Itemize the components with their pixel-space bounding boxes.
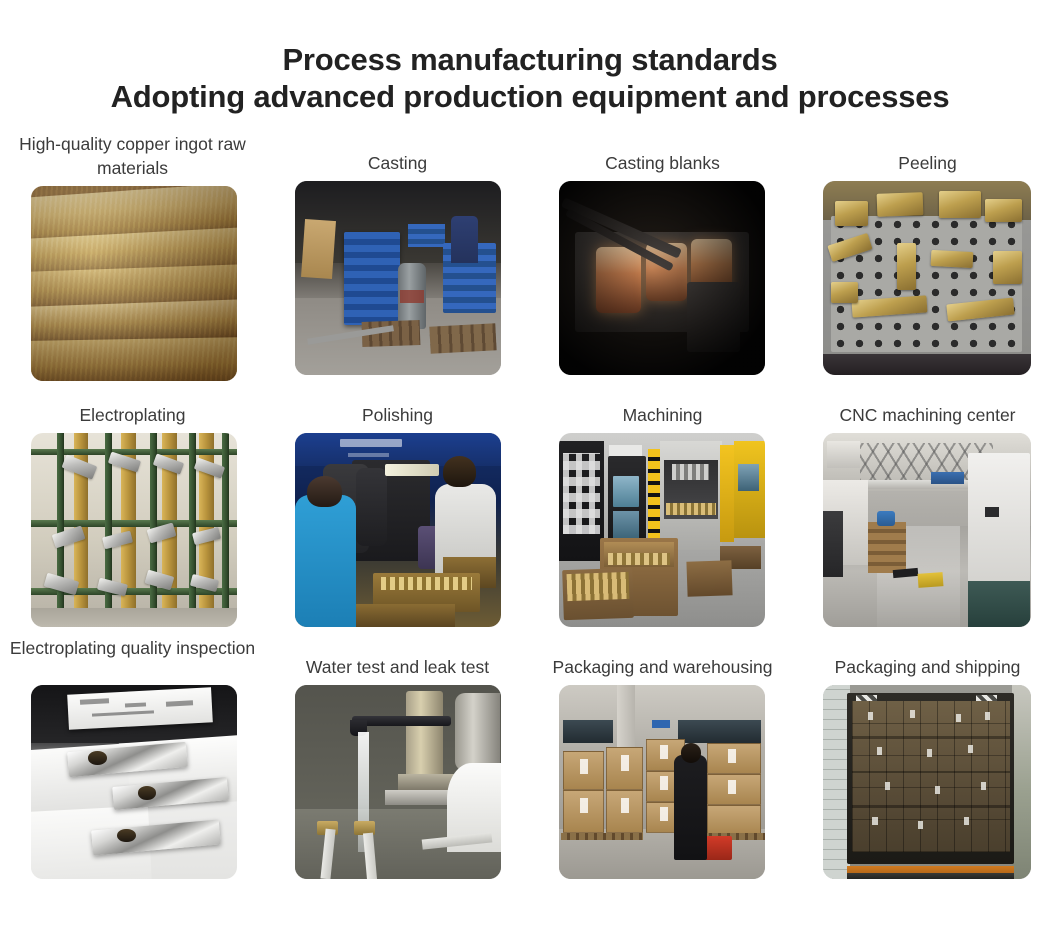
process-step-machining[interactable]: Machining xyxy=(530,385,795,637)
brass-part xyxy=(831,282,858,303)
worker-head xyxy=(443,456,476,487)
worker-head xyxy=(681,743,702,762)
yellow-panel xyxy=(720,445,734,542)
worker-figure xyxy=(451,216,478,263)
brass-part xyxy=(897,243,916,290)
carton-label xyxy=(935,786,940,794)
document-text xyxy=(166,700,193,706)
hazard-stripe xyxy=(648,449,660,550)
faucet-bore xyxy=(138,786,157,800)
step-photo-copper-ingot-raw-materials[interactable] xyxy=(31,186,237,381)
step-photo-packaging-and-shipping[interactable] xyxy=(823,685,1031,879)
bench-edge xyxy=(823,354,1031,375)
brass-parts xyxy=(608,553,670,565)
warehouse-window xyxy=(678,720,760,743)
cylinder-marking xyxy=(400,290,425,304)
photo-shading xyxy=(31,186,237,381)
wooden-crate xyxy=(686,560,733,596)
overhead-beam xyxy=(864,480,985,490)
carton-row-divider xyxy=(852,771,1010,774)
machine-screen xyxy=(613,511,640,538)
wooden-pallet xyxy=(430,323,497,354)
office-window xyxy=(827,441,860,468)
carton-label xyxy=(868,712,873,720)
page-title: Process manufacturing standards Adopting… xyxy=(0,0,1060,115)
wall-pillar xyxy=(617,685,636,751)
banner-text xyxy=(340,439,402,447)
carton-label xyxy=(985,712,990,720)
brass-part xyxy=(930,250,972,268)
spindle-heads xyxy=(672,464,709,480)
faucet-spout xyxy=(352,716,451,726)
carton-label xyxy=(877,747,882,755)
container-edge xyxy=(847,873,1013,879)
carton-label xyxy=(968,745,973,753)
blue-equipment xyxy=(877,511,896,527)
step-caption: Packaging and shipping xyxy=(795,637,1060,685)
step-photo-water-test-and-leak-test[interactable] xyxy=(295,685,501,879)
carton-label xyxy=(910,710,915,718)
page-title-line-1: Process manufacturing standards xyxy=(0,42,1060,79)
tiled-wall xyxy=(823,685,850,879)
carton-label xyxy=(660,807,668,821)
banner-text xyxy=(348,453,389,458)
carton-row-divider xyxy=(852,736,1010,739)
process-step-casting[interactable]: Casting xyxy=(265,133,530,385)
blue-crate-stack xyxy=(408,224,445,247)
carton-label xyxy=(981,782,986,790)
process-step-peeling[interactable]: Peeling xyxy=(795,133,1060,385)
carton-label xyxy=(927,749,932,757)
step-photo-packaging-and-warehousing[interactable] xyxy=(559,685,765,879)
step-caption: Water test and leak test xyxy=(265,637,530,685)
step-caption: High-quality copper ingot raw materials xyxy=(0,133,265,186)
plant-floor xyxy=(31,608,237,627)
step-caption: Electroplating xyxy=(0,385,265,433)
brass-part xyxy=(939,191,981,218)
brass-part xyxy=(993,251,1022,284)
machine-cabinet xyxy=(823,511,844,577)
parts-tray xyxy=(356,604,455,627)
window-panes xyxy=(563,453,600,534)
work-lamp xyxy=(385,464,439,476)
carton-label xyxy=(580,798,588,814)
carton-label xyxy=(728,749,736,763)
carton-label xyxy=(918,821,923,829)
carton-label xyxy=(580,759,588,775)
faucet-bore xyxy=(88,751,107,765)
machine-cabinet xyxy=(968,453,1030,593)
step-caption: Packaging and warehousing xyxy=(530,637,795,685)
carton-label xyxy=(660,745,668,759)
machine-screen xyxy=(738,464,759,491)
step-caption: Peeling xyxy=(795,133,1060,181)
process-standards-page: Process manufacturing standards Adopting… xyxy=(0,0,1060,949)
worker-figure xyxy=(295,495,357,627)
carton-label xyxy=(956,714,961,722)
process-step-packaging-and-warehousing[interactable]: Packaging and warehousing xyxy=(530,637,795,889)
green-column xyxy=(222,433,229,615)
green-column xyxy=(189,433,196,615)
machine-base xyxy=(968,581,1030,628)
wall-sign xyxy=(652,720,671,728)
step-photo-machining[interactable] xyxy=(559,433,765,627)
brass-part xyxy=(876,192,923,217)
process-step-casting-blanks[interactable]: Casting blanks xyxy=(530,133,795,385)
page-title-line-2: Adopting advanced production equipment a… xyxy=(0,79,1060,116)
carton-label xyxy=(621,798,629,814)
hazard-marking xyxy=(976,695,997,701)
process-step-electroplating[interactable]: Electroplating xyxy=(0,385,265,637)
hazard-marking xyxy=(856,695,877,701)
step-photo-peeling[interactable] xyxy=(823,181,1031,375)
step-photo-polishing[interactable] xyxy=(295,433,501,627)
machine-label xyxy=(609,445,642,457)
process-step-electroplating-quality-inspection[interactable]: Electroplating quality inspection xyxy=(0,637,265,889)
step-photo-casting[interactable] xyxy=(295,181,501,375)
brass-parts xyxy=(666,503,715,515)
stacked-boxes xyxy=(868,522,905,572)
blue-banner xyxy=(931,472,964,484)
carton-label xyxy=(964,817,969,825)
process-step-packaging-and-shipping[interactable]: Packaging and shipping xyxy=(795,637,1060,889)
brass-parts xyxy=(567,572,630,601)
wooden-pallet xyxy=(561,833,643,841)
document-text xyxy=(125,702,146,707)
yellow-tray xyxy=(918,572,944,587)
carton-label xyxy=(660,776,668,790)
cabinet-handle xyxy=(985,507,1000,517)
step-photo-electroplating-quality-inspection[interactable] xyxy=(31,685,237,879)
carton-row-divider xyxy=(852,805,1010,808)
step-photo-electroplating[interactable] xyxy=(31,433,237,627)
machine-screen xyxy=(613,476,640,507)
step-caption: Machining xyxy=(530,385,795,433)
step-caption: Casting blanks xyxy=(530,133,795,181)
metal-pipe xyxy=(455,693,500,771)
warehouse-window xyxy=(563,720,612,743)
photo-shading xyxy=(559,181,765,375)
carton-label xyxy=(728,780,736,794)
brass-part xyxy=(985,199,1022,222)
worker-head xyxy=(307,476,342,507)
wooden-board xyxy=(301,219,336,279)
background-view xyxy=(1012,685,1031,879)
worker-figure xyxy=(674,755,707,860)
blue-crate-stack xyxy=(344,232,400,325)
step-caption: CNC machining center xyxy=(795,385,1060,433)
process-step-polishing[interactable]: Polishing xyxy=(265,385,530,637)
carton-label xyxy=(621,755,629,771)
process-step-cnc-machining-center[interactable]: CNC machining center xyxy=(795,385,1060,637)
step-caption: Electroplating quality inspection xyxy=(0,637,265,685)
step-caption: Casting xyxy=(265,133,530,181)
step-photo-cnc-machining-center[interactable] xyxy=(823,433,1031,627)
process-steps-grid: High-quality copper ingot raw materials … xyxy=(0,133,1060,889)
carton-label xyxy=(872,817,877,825)
loaded-cartons xyxy=(852,701,1010,852)
fixture-base xyxy=(398,774,456,790)
process-step-copper-ingot-raw-materials[interactable]: High-quality copper ingot raw materials xyxy=(0,133,265,385)
test-fixture-column xyxy=(406,691,443,780)
step-caption: Polishing xyxy=(265,385,530,433)
carton-label xyxy=(885,782,890,790)
machine-hood xyxy=(356,468,387,546)
brass-parts xyxy=(381,577,472,591)
inspection-document xyxy=(67,687,213,729)
faucet-bore xyxy=(117,829,136,843)
process-step-water-test-and-leak-test[interactable]: Water test and leak test xyxy=(265,637,530,889)
step-photo-casting-blanks[interactable] xyxy=(559,181,765,375)
brass-part xyxy=(835,201,868,226)
